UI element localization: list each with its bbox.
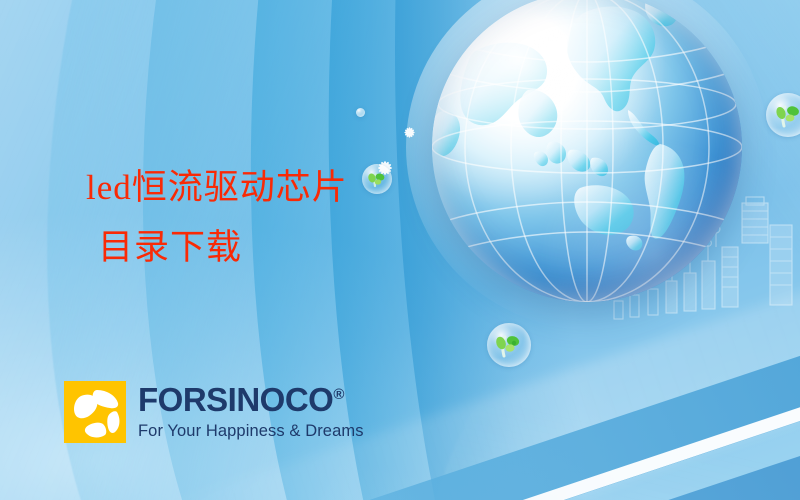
bubble-with-green-sprout-2 xyxy=(487,323,531,367)
logo-mark xyxy=(64,381,126,443)
sparkle-flower-icon-2 xyxy=(400,123,419,142)
bubble-with-green-sprout-1 xyxy=(362,164,392,194)
green-sprout-icon-1 xyxy=(362,164,392,194)
logo-brand-word: FORSINOCO xyxy=(138,381,333,418)
company-logo: FORSINOCO® For Your Happiness & Dreams xyxy=(64,381,364,443)
logo-tagline: For Your Happiness & Dreams xyxy=(138,423,364,440)
logo-text-block: FORSINOCO® For Your Happiness & Dreams xyxy=(138,381,364,440)
bubble-with-green-sprout-3 xyxy=(766,93,800,137)
headline: led恒流驱动芯片 目录下载 xyxy=(86,165,348,271)
logo-brand-name: FORSINOCO® xyxy=(138,383,364,416)
headline-line-2: 目录下载 xyxy=(98,225,348,271)
green-sprout-icon-2 xyxy=(487,323,531,367)
bubble-small xyxy=(356,108,365,117)
registered-trademark-icon: ® xyxy=(333,386,344,403)
four-petal-pinwheel-icon xyxy=(64,381,126,443)
headline-line-1: led恒流驱动芯片 xyxy=(86,165,348,211)
banner-image: led恒流驱动芯片 目录下载 FORSINOCO® For Your Happi… xyxy=(0,0,800,500)
green-sprout-icon-3 xyxy=(766,93,800,137)
